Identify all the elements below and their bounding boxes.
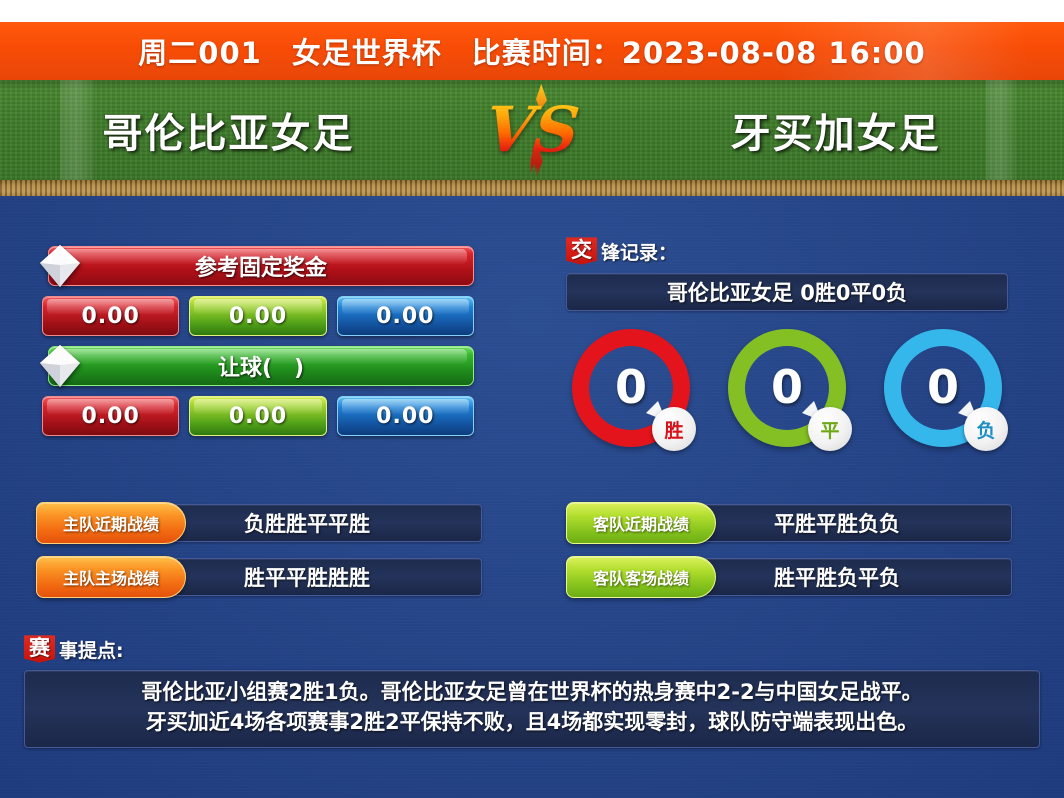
match-preview-page: 周二001 女足世界杯 比赛时间：2023-08-08 16:00 哥伦比亚女足… — [0, 0, 1064, 798]
head-to-head-panel: 交 锋记录： 哥伦比亚女足 0胜0平0负 0 胜 0 — [566, 236, 1008, 447]
vs-icon: VS — [477, 80, 587, 180]
home-home-form-tag: 主队主场战绩 — [36, 556, 186, 598]
button-gloss — [194, 399, 321, 414]
away-recent-form-row: 平胜平胜负负 客队近期战绩 — [566, 504, 1012, 542]
away-recent-form-results: 平胜平胜负负 — [774, 508, 900, 538]
ring-win-badge: 胜 — [652, 407, 696, 451]
h2h-ring-draw: 0 平 — [728, 329, 846, 447]
tips-heading: 赛 事提点: — [24, 634, 1040, 664]
top-margin — [0, 0, 1064, 22]
odds-panel: 参考固定奖金 0.00 0.00 0.00 — [42, 246, 474, 436]
fixed-prize-draw-button[interactable]: 0.00 — [189, 296, 326, 336]
button-gloss — [342, 399, 469, 414]
h2h-record-text: 哥伦比亚女足 0胜0平0负 — [667, 277, 907, 307]
ring-draw-badge: 平 — [808, 407, 852, 451]
ring-win-value: 0 — [615, 364, 647, 410]
main-content: 参考固定奖金 0.00 0.00 0.00 — [0, 196, 1064, 798]
handicap-win-button[interactable]: 0.00 — [42, 396, 179, 436]
diamond-gem-icon — [33, 339, 87, 393]
ring-loss-badge: 负 — [964, 407, 1008, 451]
away-recent-form-tag: 客队近期战绩 — [566, 502, 716, 544]
button-gloss — [194, 299, 321, 314]
page-title: 周二001 女足世界杯 比赛时间：2023-08-08 16:00 — [138, 30, 925, 72]
h2h-record-bar: 哥伦比亚女足 0胜0平0负 — [566, 273, 1008, 311]
home-team-name: 哥伦比亚女足 — [0, 101, 477, 159]
tips-tag: 赛 — [24, 635, 55, 662]
head-to-head-heading: 交 锋记录： — [566, 236, 1008, 266]
dirt-strip — [0, 180, 1064, 196]
h2h-tag: 交 — [566, 237, 597, 264]
ring-loss-value: 0 — [927, 364, 959, 410]
home-recent-form-row: 负胜胜平平胜 主队近期战绩 — [36, 504, 482, 542]
fixed-prize-header: 参考固定奖金 — [48, 246, 474, 286]
header-banner: 周二001 女足世界杯 比赛时间：2023-08-08 16:00 — [0, 22, 1064, 80]
h2h-ring-win: 0 胜 — [572, 329, 690, 447]
away-form-block: 平胜平胜负负 客队近期战绩 胜平胜负平负 客队客场战绩 — [566, 504, 1012, 612]
home-recent-form-tag: 主队近期战绩 — [36, 502, 186, 544]
handicap-title: 让球( ) — [218, 350, 304, 382]
away-away-form-row: 胜平胜负平负 客队客场战绩 — [566, 558, 1012, 596]
vs-label: VS — [482, 99, 581, 161]
tips-line-2: 牙买加近4场各项赛事2胜2平保持不败，且4场都实现零封，球队防守端表现出色。 — [35, 708, 1029, 738]
fixed-prize-win-button[interactable]: 0.00 — [42, 296, 179, 336]
fixed-prize-loss-button[interactable]: 0.00 — [337, 296, 474, 336]
home-form-block: 负胜胜平平胜 主队近期战绩 胜平平胜胜胜 主队主场战绩 — [36, 504, 482, 612]
tips-box: 哥伦比亚小组赛2胜1负。哥伦比亚女足曾在世界杯的热身赛中2-2与中国女足战平。 … — [24, 670, 1040, 748]
match-tips-block: 赛 事提点: 哥伦比亚小组赛2胜1负。哥伦比亚女足曾在世界杯的热身赛中2-2与中… — [24, 634, 1040, 748]
handicap-draw-button[interactable]: 0.00 — [189, 396, 326, 436]
diamond-gem-icon — [33, 239, 87, 293]
away-away-form-tag: 客队客场战绩 — [566, 556, 716, 598]
fixed-prize-title: 参考固定奖金 — [195, 250, 327, 282]
handicap-header: 让球( ) — [48, 346, 474, 386]
h2h-ring-loss: 0 负 — [884, 329, 1002, 447]
button-gloss — [342, 299, 469, 314]
home-home-form-results: 胜平平胜胜胜 — [244, 562, 370, 592]
ring-draw-value: 0 — [771, 364, 803, 410]
handicap-odds-row: 0.00 0.00 0.00 — [42, 396, 474, 436]
grass-background: 哥伦比亚女足 VS 牙买加女足 — [0, 80, 1064, 180]
tips-line-1: 哥伦比亚小组赛2胜1负。哥伦比亚女足曾在世界杯的热身赛中2-2与中国女足战平。 — [35, 678, 1029, 708]
h2h-rings: 0 胜 0 平 0 负 — [566, 329, 1008, 447]
home-recent-form-results: 负胜胜平平胜 — [244, 508, 370, 538]
away-away-form-results: 胜平胜负平负 — [774, 562, 900, 592]
button-gloss — [47, 399, 174, 414]
tips-label: 事提点: — [59, 636, 124, 663]
h2h-label: 锋记录： — [601, 238, 677, 265]
teams-row: 哥伦比亚女足 VS 牙买加女足 — [0, 80, 1064, 180]
fixed-prize-odds-row: 0.00 0.00 0.00 — [42, 296, 474, 336]
handicap-section: 让球( ) — [42, 346, 474, 386]
handicap-loss-button[interactable]: 0.00 — [337, 396, 474, 436]
away-team-name: 牙买加女足 — [587, 101, 1064, 159]
button-gloss — [47, 299, 174, 314]
home-home-form-row: 胜平平胜胜胜 主队主场战绩 — [36, 558, 482, 596]
